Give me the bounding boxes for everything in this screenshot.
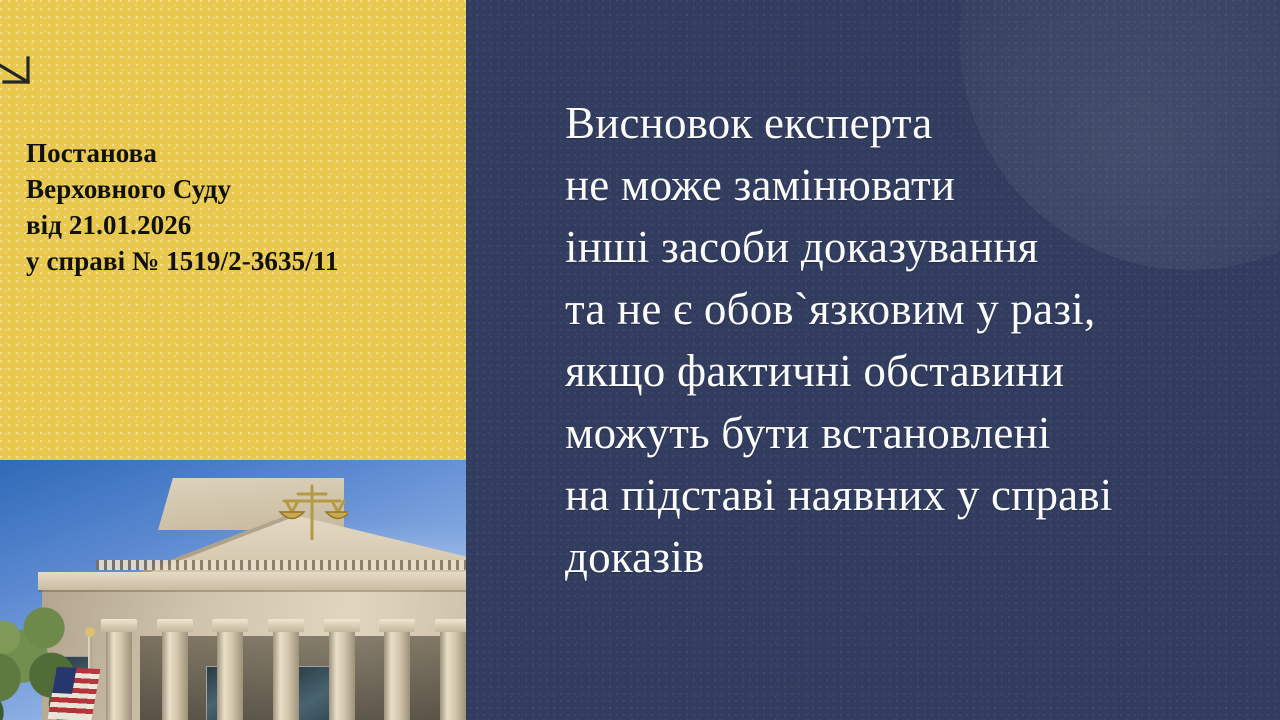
column — [217, 628, 243, 720]
flag-canton — [52, 667, 76, 694]
column — [384, 628, 410, 720]
column — [162, 628, 188, 720]
entablature — [38, 572, 466, 590]
dentil-molding — [96, 560, 466, 570]
body-quote-text: Висновок експерта не може замінювати інш… — [565, 92, 1245, 588]
column — [440, 628, 466, 720]
courthouse-photo — [0, 460, 466, 720]
title-panel: Постанова Верховного Суду від 21.01.2026… — [0, 0, 466, 460]
column — [329, 628, 355, 720]
column — [273, 628, 299, 720]
scales-of-justice-icon — [276, 484, 348, 540]
colonnade — [106, 628, 466, 720]
down-right-arrow-icon — [0, 46, 44, 90]
slide-canvas: Постанова Верховного Суду від 21.01.2026… — [0, 0, 1280, 720]
us-flag-icon — [48, 667, 101, 720]
column — [106, 628, 132, 720]
page-title: Постанова Верховного Суду від 21.01.2026… — [26, 136, 376, 280]
